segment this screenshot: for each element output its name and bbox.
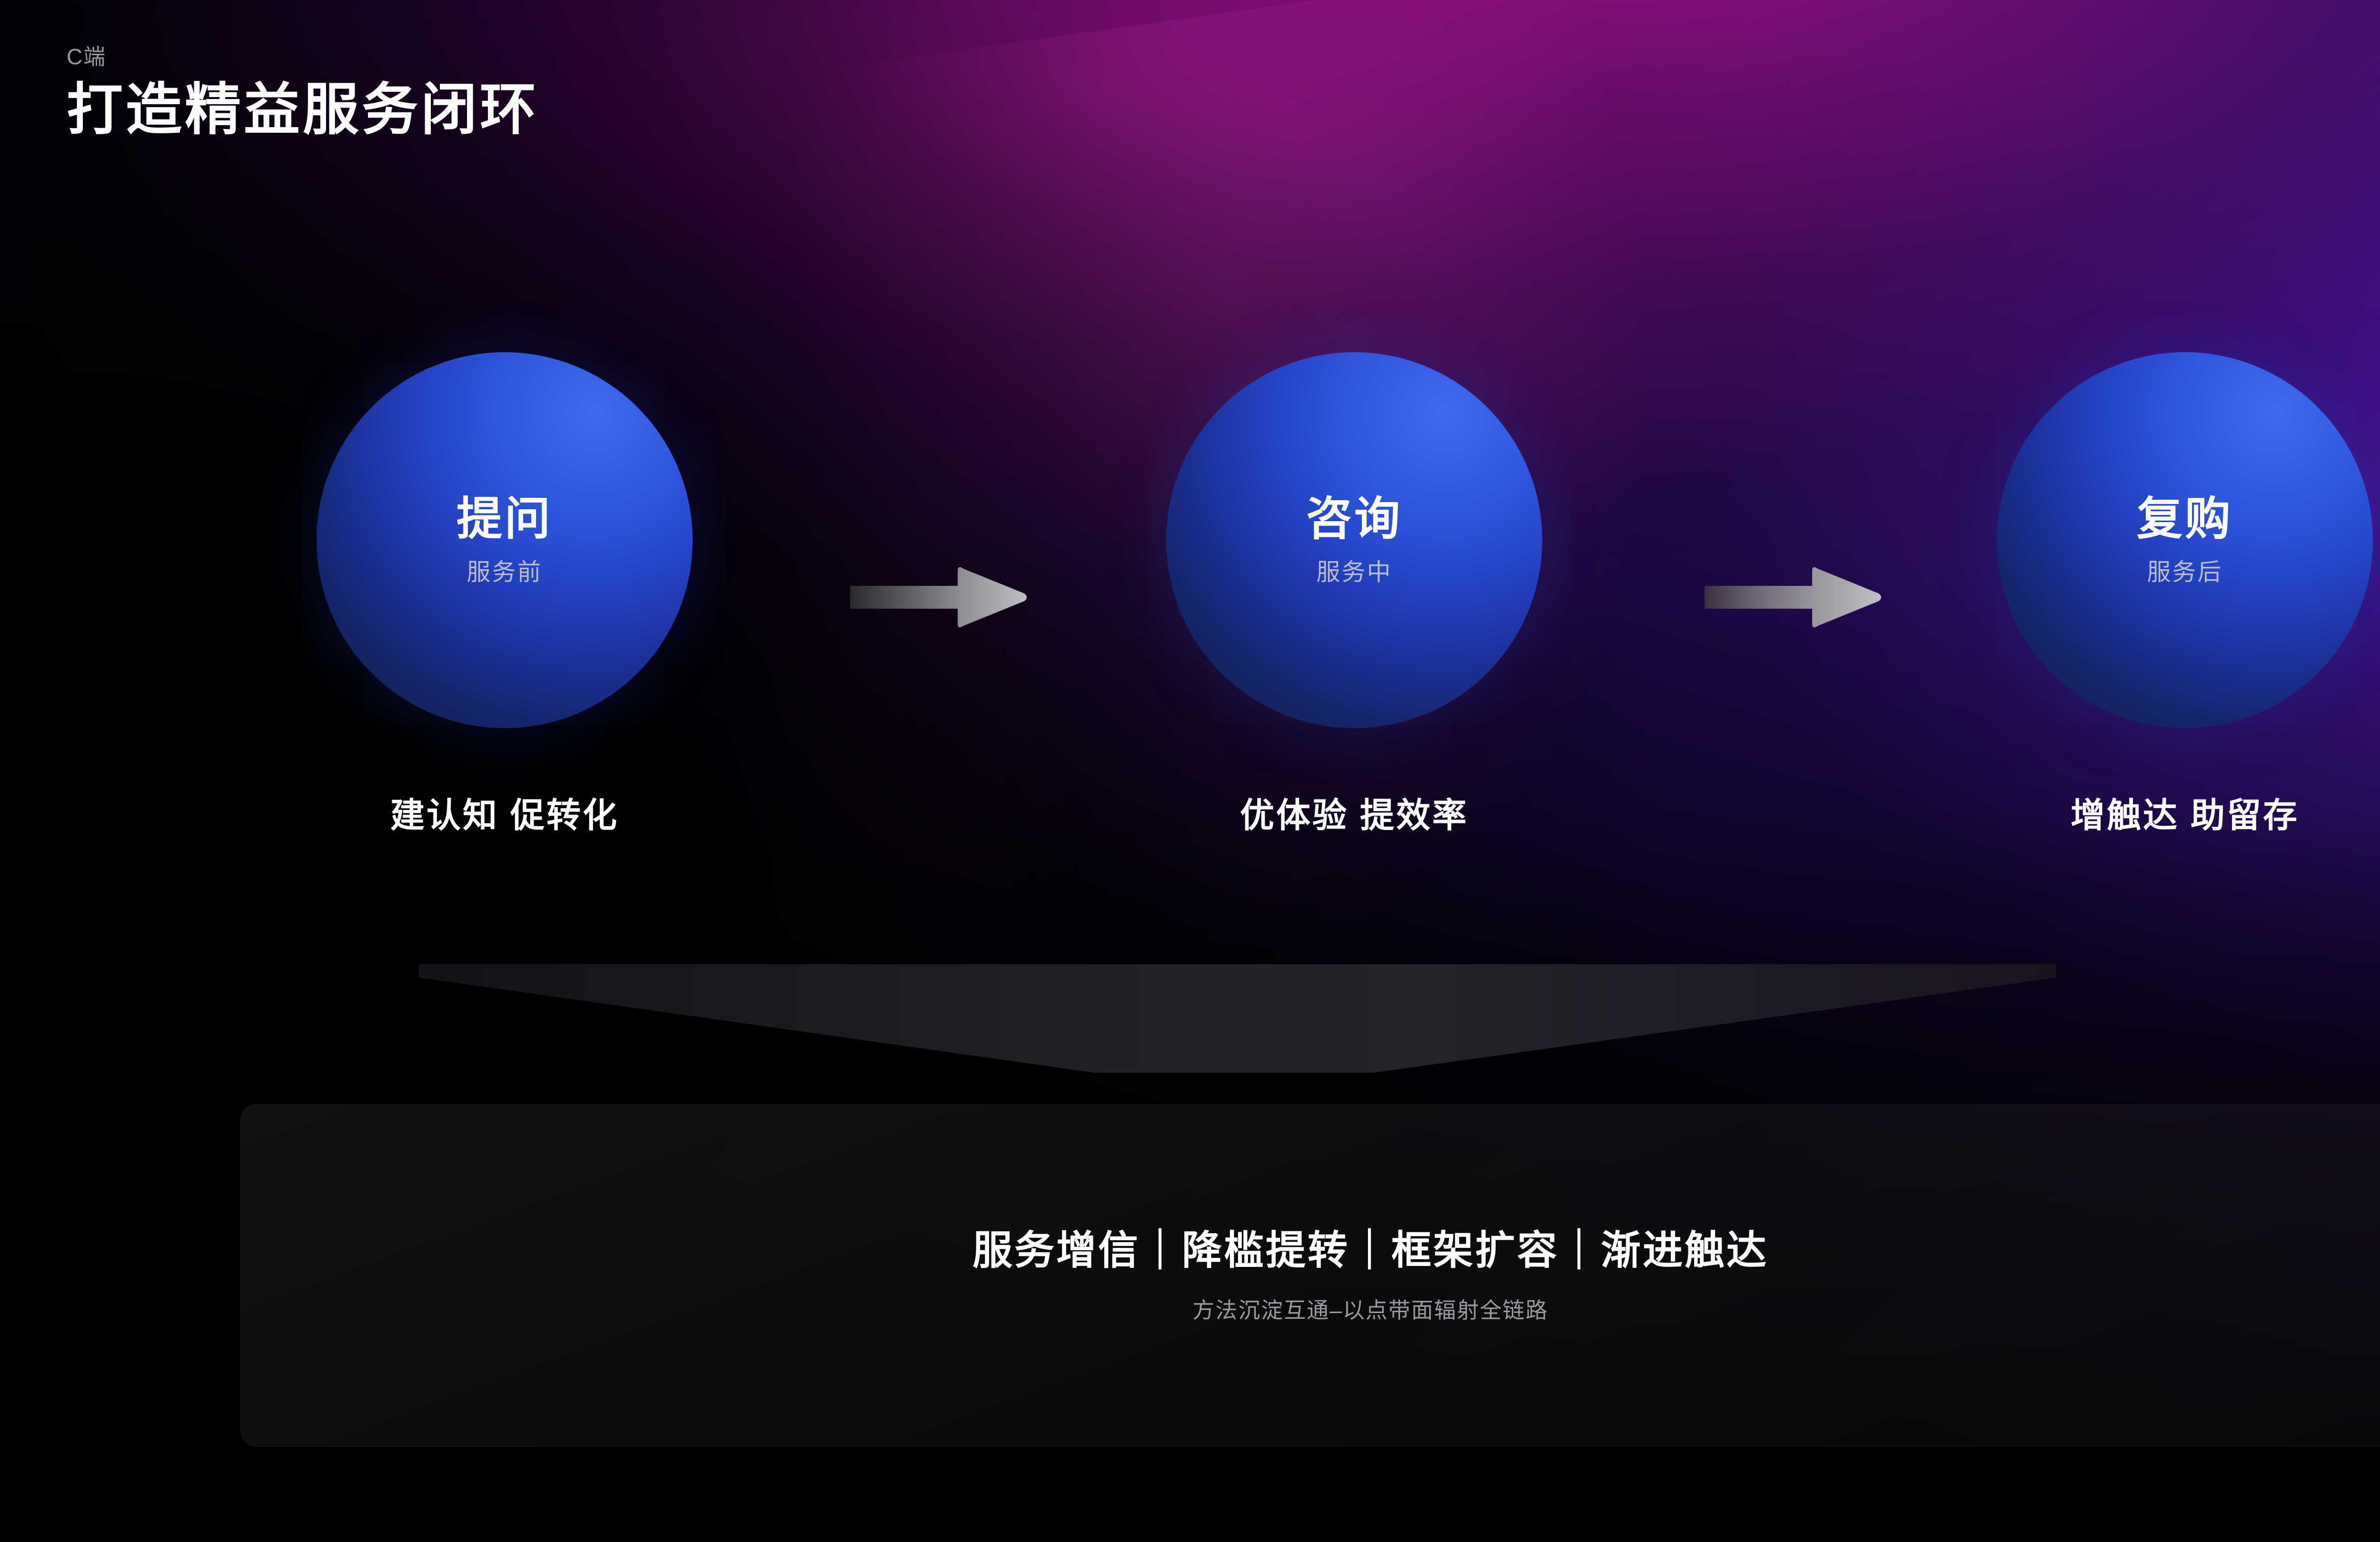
eyebrow-label: C端 — [67, 46, 539, 68]
flow-node-3[interactable]: 复购 服务后 增触达 助留存 — [1971, 352, 2380, 837]
convergence-chevron — [419, 964, 2056, 1074]
flow-caption-2: 优体验 提效率 — [1140, 787, 1568, 837]
flow-bubble-subtitle-1: 服务前 — [467, 560, 543, 584]
flow-caption-3: 增触达 助留存 — [1971, 787, 2380, 837]
summary-panel: 服务增信｜降槛提转｜框架扩容｜渐进触达 方法沉淀互通–以点带面辐射全链路 — [240, 1104, 2380, 1447]
page-title: 打造精益服务闭环 — [67, 80, 539, 140]
slide-canvas: C端 打造精益服务闭环 提问 服务前 建认知 促转化 — [0, 0, 2380, 1542]
flow-bubble-subtitle-3: 服务后 — [2147, 560, 2223, 584]
flow-node-1[interactable]: 提问 服务前 建认知 促转化 — [290, 352, 719, 837]
flow-bubble-title-1: 提问 — [456, 496, 553, 542]
flow-bubble-2[interactable]: 咨询 服务中 — [1166, 352, 1542, 728]
flow-bubble-1[interactable]: 提问 服务前 — [317, 352, 693, 728]
slide-header: C端 打造精益服务闭环 — [67, 46, 539, 140]
flow-bubble-title-3: 复购 — [2137, 496, 2233, 542]
summary-subline: 方法沉淀互通–以点带面辐射全链路 — [1192, 1297, 1548, 1324]
arrow-right-icon-2 — [1702, 564, 1883, 631]
flow-node-2[interactable]: 咨询 服务中 优体验 提效率 — [1140, 352, 1568, 837]
flow-bubble-3[interactable]: 复购 服务后 — [1997, 352, 2373, 728]
service-flow-row: 提问 服务前 建认知 促转化 咨询 服 — [0, 352, 2380, 961]
flow-bubble-title-2: 咨询 — [1306, 496, 1402, 542]
flow-caption-1: 建认知 促转化 — [290, 787, 719, 837]
summary-headline: 服务增信｜降槛提转｜框架扩容｜渐进触达 — [972, 1227, 1768, 1274]
arrow-right-icon — [847, 564, 1028, 631]
flow-bubble-subtitle-2: 服务中 — [1317, 560, 1392, 584]
